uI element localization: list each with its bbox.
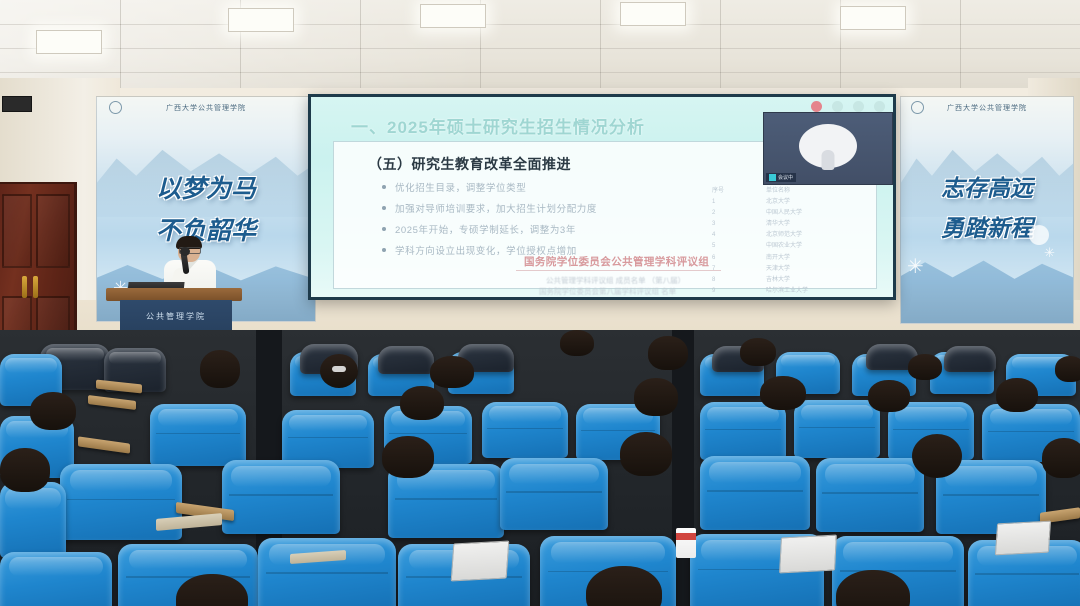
laptop-screen[interactable] bbox=[779, 535, 837, 574]
ceiling-light bbox=[228, 8, 294, 32]
banner-left-line1: 以梦为马 bbox=[97, 169, 315, 205]
seat[interactable] bbox=[500, 458, 608, 530]
ceiling-tile bbox=[600, 48, 721, 73]
bullet-text: 优化招生目录，调整学位类型 bbox=[395, 180, 526, 194]
snowflake-icon: ✳ bbox=[907, 254, 924, 279]
table-header-row: 序号 单位名称 bbox=[712, 186, 862, 197]
lecture-hall-photo: 广西大学公共管理学院 以梦为马 不负韶华 ✳ 广西大学公共管理学院 志存高远 勇… bbox=[0, 0, 1080, 606]
door-handle-icon[interactable] bbox=[22, 276, 27, 298]
laptop-screen[interactable] bbox=[451, 541, 510, 582]
slide-bullet-list: 优化招生目录，调整学位类型 加强对导师培训要求，加大招生计划分配力度 2025年… bbox=[382, 180, 597, 264]
slide-footnote: 公共管理学科评议组 成员名单 （第八届） bbox=[546, 275, 685, 286]
podium-label: 公共管理学院 bbox=[120, 311, 232, 322]
seat[interactable] bbox=[700, 402, 786, 460]
moon-icon bbox=[1029, 225, 1049, 245]
ceiling-tile bbox=[720, 48, 841, 73]
armrest bbox=[88, 395, 136, 410]
laptop-screen[interactable] bbox=[995, 521, 1051, 556]
slide-red-note: 国务院学位委员会公共管理学科评议组 bbox=[524, 254, 709, 269]
seat[interactable] bbox=[794, 400, 880, 458]
person-silhouette-icon bbox=[822, 150, 835, 170]
ceiling-tile bbox=[960, 48, 1080, 73]
ceiling-tile bbox=[480, 24, 601, 49]
seat[interactable] bbox=[0, 552, 112, 606]
ceiling-tile bbox=[120, 24, 241, 49]
student-head bbox=[1055, 356, 1080, 382]
bullet-text: 加强对导师培训要求，加大招生计划分配力度 bbox=[395, 201, 597, 215]
seat[interactable] bbox=[700, 456, 810, 530]
student-head bbox=[648, 336, 688, 370]
seat[interactable] bbox=[0, 482, 66, 558]
student-head bbox=[1042, 438, 1080, 478]
ceiling-light bbox=[420, 4, 486, 28]
drink-cup bbox=[676, 528, 696, 558]
people-icon[interactable] bbox=[853, 101, 864, 112]
slide-divider bbox=[516, 270, 721, 271]
slide-footnote: 国务院学位委员会第八届学科评议组 名单 bbox=[539, 286, 676, 297]
bullet-dot-icon bbox=[382, 206, 386, 210]
table-row: 8吉林大学 bbox=[712, 275, 862, 286]
seat[interactable] bbox=[258, 538, 396, 606]
banner-right-header: 广西大学公共管理学院 bbox=[901, 103, 1073, 113]
table-row: 6南开大学 bbox=[712, 253, 862, 264]
student-head bbox=[634, 378, 678, 416]
student-head bbox=[740, 338, 776, 366]
student-head bbox=[908, 354, 942, 380]
ceiling-tile bbox=[120, 0, 241, 25]
more-icon[interactable] bbox=[874, 101, 885, 112]
seat[interactable] bbox=[944, 346, 996, 372]
list-item: 2025年开始，专硕学制延长，调整为3年 bbox=[382, 222, 597, 236]
ceiling-light bbox=[620, 2, 686, 26]
student-head bbox=[430, 356, 474, 388]
student-head bbox=[868, 380, 910, 412]
mic-icon bbox=[769, 174, 776, 181]
seat[interactable] bbox=[482, 402, 568, 458]
ceiling-tile bbox=[720, 0, 841, 25]
ceiling-tile bbox=[840, 48, 961, 73]
armrest bbox=[78, 436, 130, 453]
table-col-header: 序号 bbox=[712, 186, 756, 197]
status-badge: 会议中 bbox=[766, 173, 796, 182]
ceiling-tile bbox=[960, 24, 1080, 49]
banner-left-header: 广西大学公共管理学院 bbox=[97, 103, 315, 113]
door-sign bbox=[2, 96, 32, 112]
ceiling-tile bbox=[720, 24, 841, 49]
student-head bbox=[560, 330, 594, 356]
bullet-dot-icon bbox=[382, 248, 386, 252]
share-icon[interactable] bbox=[832, 101, 843, 112]
door-panel bbox=[2, 194, 32, 268]
door-handle-icon[interactable] bbox=[33, 276, 38, 298]
slide-subtitle: （五）研究生教育改革全面推进 bbox=[368, 154, 571, 174]
table-row: 7天津大学 bbox=[712, 264, 862, 275]
slide-side-table: 序号 单位名称 1北京大学 2中国人民大学 3清华大学 4北京师范大学 5中国农… bbox=[712, 186, 862, 297]
student-head bbox=[400, 386, 444, 420]
bullet-dot-icon bbox=[382, 227, 386, 231]
table-row: 4北京师范大学 bbox=[712, 230, 862, 241]
slide-surface: 一、2025年硕士研究生招生情况分析 （五）研究生教育改革全面推进 优化招生目录… bbox=[311, 97, 893, 297]
bullet-dot-icon bbox=[382, 185, 386, 189]
student-head bbox=[320, 354, 358, 388]
ceiling-tile bbox=[600, 24, 721, 49]
student-head bbox=[30, 392, 76, 430]
table-row: 3清华大学 bbox=[712, 219, 862, 230]
student-head bbox=[200, 350, 240, 388]
table-row: 2中国人民大学 bbox=[712, 208, 862, 219]
bullet-text: 2025年开始，专硕学制延长，调整为3年 bbox=[395, 222, 576, 236]
banner-right: 广西大学公共管理学院 志存高远 勇踏新程 ✳ ✳ bbox=[900, 96, 1074, 324]
student-head bbox=[620, 432, 672, 476]
ceiling-tile bbox=[360, 48, 481, 73]
table-col-header: 单位名称 bbox=[766, 186, 862, 197]
ceiling-tile bbox=[0, 0, 121, 25]
projection-screen: 一、2025年硕士研究生招生情况分析 （五）研究生教育改革全面推进 优化招生目录… bbox=[308, 94, 896, 300]
seat[interactable] bbox=[150, 404, 246, 466]
ceiling-tile bbox=[480, 48, 601, 73]
status-badge-label: 会议中 bbox=[778, 174, 793, 181]
record-icon[interactable] bbox=[811, 101, 822, 112]
seat[interactable] bbox=[816, 458, 924, 532]
ceiling-tile bbox=[480, 0, 601, 25]
table-row: 9哈尔滨工业大学 bbox=[712, 286, 862, 297]
snowflake-icon: ✳ bbox=[1044, 245, 1055, 261]
table-row: 5中国农业大学 bbox=[712, 241, 862, 252]
auditorium-seating bbox=[0, 330, 1080, 606]
student-head bbox=[760, 376, 806, 410]
ceiling-light bbox=[36, 30, 102, 54]
video-conference-tile[interactable]: 会议中 bbox=[763, 112, 893, 185]
microphone-head-icon bbox=[180, 247, 190, 256]
list-item: 加强对导师培训要求，加大招生计划分配力度 bbox=[382, 201, 597, 215]
table-row: 1北京大学 bbox=[712, 197, 862, 208]
student-head bbox=[912, 434, 962, 478]
door-panel bbox=[36, 194, 70, 268]
presentation-toolbar[interactable] bbox=[811, 101, 885, 112]
student-head bbox=[996, 378, 1038, 412]
list-item: 优化招生目录，调整学位类型 bbox=[382, 180, 597, 194]
ceiling bbox=[0, 0, 1080, 96]
ceiling-tile bbox=[960, 0, 1080, 25]
banner-right-line1: 志存高远 bbox=[901, 169, 1073, 203]
student-head bbox=[0, 448, 50, 492]
student-head bbox=[382, 436, 434, 478]
ceiling-tile bbox=[120, 48, 241, 73]
ceiling-tile bbox=[240, 48, 361, 73]
seat[interactable] bbox=[378, 346, 434, 374]
seat[interactable] bbox=[222, 460, 340, 534]
ceiling-light bbox=[840, 6, 906, 30]
